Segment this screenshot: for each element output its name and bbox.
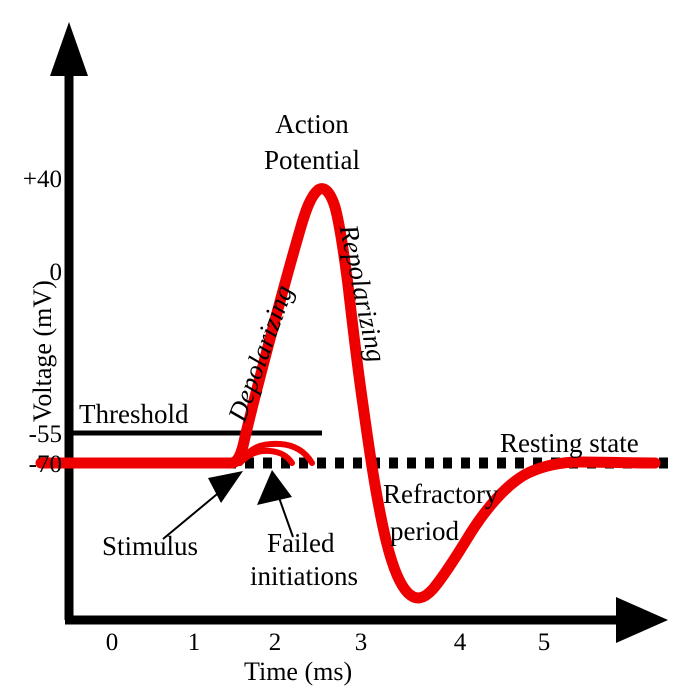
failed-initiations-arrowhead: [257, 470, 292, 505]
stimulus-label: Stimulus: [102, 533, 198, 560]
x-tick-label-1: 1: [174, 630, 214, 655]
x-axis-arrowhead: [616, 597, 668, 643]
x-tick-label-3: 3: [341, 630, 381, 655]
y-axis-arrowhead: [50, 22, 88, 76]
refractory-period-label-line2: period: [390, 518, 459, 545]
action-potential-figure: +40 0 -55 -70 Voltage (mV) 0 1 2 3 4 5 T…: [0, 0, 694, 693]
x-tick-label-2: 2: [255, 630, 295, 655]
y-axis-title: Voltage (mV): [28, 280, 58, 422]
action-potential-label-line2: Potential: [232, 147, 392, 174]
failed-initiations-label-line2: initiations: [250, 563, 358, 590]
x-tick-label-4: 4: [440, 630, 480, 655]
refractory-period-label-line1: Refractory: [383, 481, 498, 508]
failed-initiations-label-line1: Failed: [267, 530, 335, 557]
action-potential-label-line1: Action: [232, 111, 392, 138]
threshold-label: Threshold: [79, 401, 188, 428]
x-axis-title: Time (ms): [244, 659, 352, 685]
x-tick-label-0: 0: [92, 630, 132, 655]
y-tick-label-minus55: -55: [2, 422, 62, 447]
y-tick-label-40: +40: [2, 167, 62, 192]
resting-state-label: Resting state: [500, 430, 639, 457]
x-tick-label-5: 5: [524, 630, 564, 655]
y-tick-label-minus70: -70: [2, 452, 62, 477]
